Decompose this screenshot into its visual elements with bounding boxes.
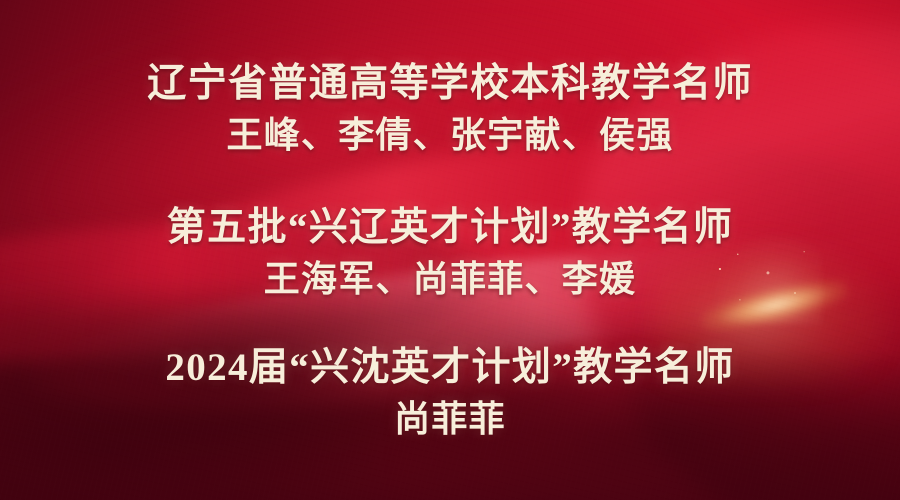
award-names-provincial: 王峰、李倩、张宇献、侯强: [0, 115, 900, 156]
award-title-provincial: 辽宁省普通高等学校本科教学名师: [0, 62, 900, 106]
award-block-xingshen: 2024届“兴沈英才计划”教学名师 尚菲菲: [0, 346, 900, 440]
award-block-provincial: 辽宁省普通高等学校本科教学名师 王峰、李倩、张宇献、侯强: [0, 62, 900, 156]
award-block-xingliao: 第五批“兴辽英才计划”教学名师 王海军、尚菲菲、李媛: [0, 206, 900, 300]
award-names-xingliao: 王海军、尚菲菲、李媛: [0, 259, 900, 300]
award-banner: 辽宁省普通高等学校本科教学名师 王峰、李倩、张宇献、侯强 第五批“兴辽英才计划”…: [0, 0, 900, 500]
text-layer: 辽宁省普通高等学校本科教学名师 王峰、李倩、张宇献、侯强 第五批“兴辽英才计划”…: [0, 0, 900, 500]
award-names-xingshen: 尚菲菲: [0, 399, 900, 440]
award-title-xingshen: 2024届“兴沈英才计划”教学名师: [0, 346, 900, 390]
award-title-xingliao: 第五批“兴辽英才计划”教学名师: [0, 206, 900, 250]
